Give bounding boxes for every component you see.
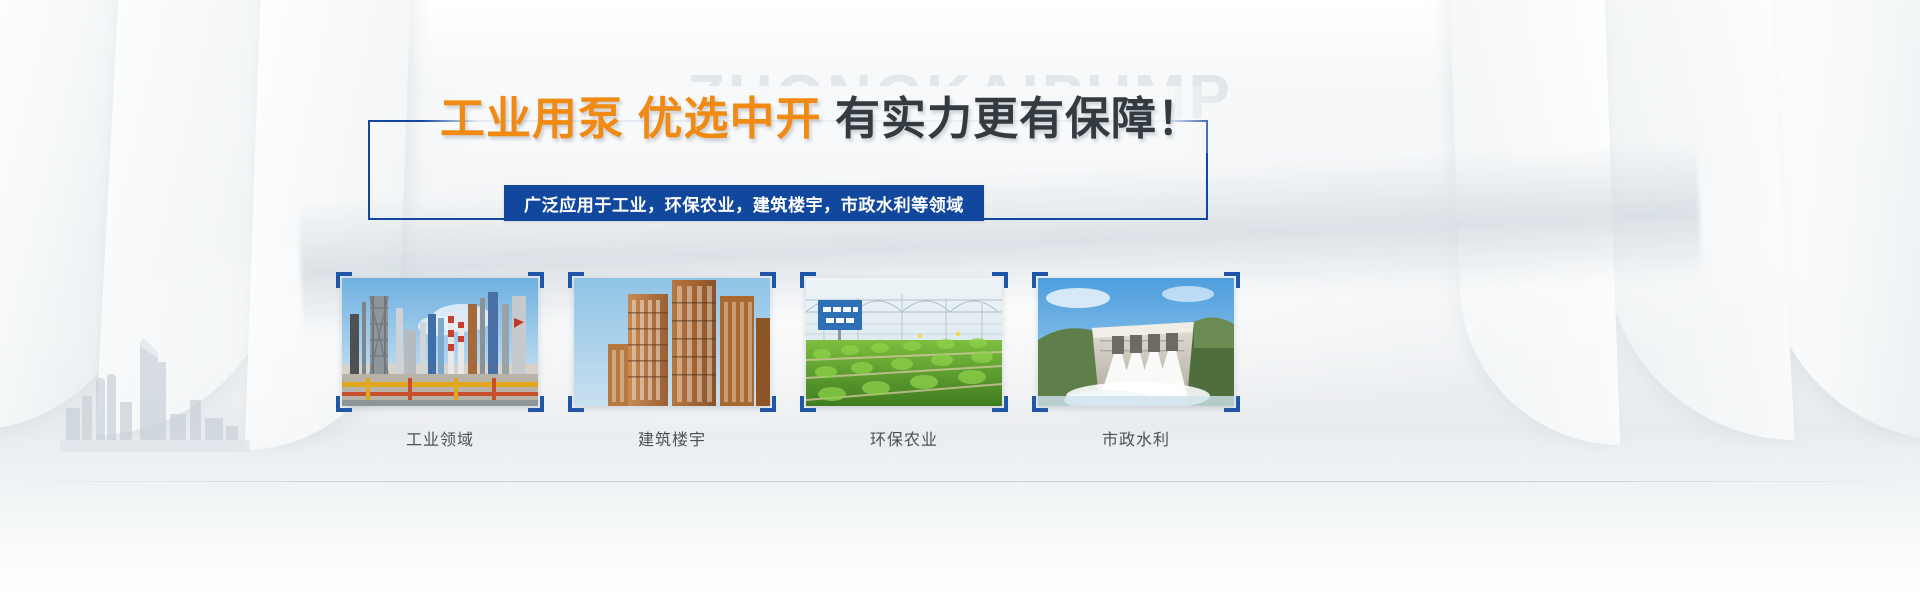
floor-horizon-line <box>0 481 1920 482</box>
card-caption: 工业领域 <box>336 426 544 450</box>
subtitle-bar: 广泛应用于工业，环保农业，建筑楼宇，市政水利等领域 <box>504 185 984 221</box>
thumbnail-frame <box>336 272 544 412</box>
subtitle-text: 广泛应用于工业，环保农业，建筑楼宇，市政水利等领域 <box>524 191 964 216</box>
thumbnail-frame <box>568 272 776 412</box>
floor-gradient <box>0 435 1920 600</box>
application-card[interactable]: 建筑楼宇 <box>568 272 776 450</box>
headline: 工业用泵 优选中开 有实力更有保障！ <box>440 96 1203 141</box>
industrial-plant-photo[interactable] <box>342 278 538 406</box>
thumbnail-frame <box>800 272 1008 412</box>
hero-banner: ZHONGKAIPUMP 工业用泵 优选中开 有实力更有保障！ 广泛应用于工业，… <box>0 0 1920 600</box>
application-card[interactable]: 工业领域 <box>336 272 544 450</box>
card-caption: 市政水利 <box>1032 426 1240 450</box>
headline-rest: 有实力更有保障！ <box>822 93 1204 144</box>
application-card-list: 工业领域 <box>336 272 1240 450</box>
application-card[interactable]: 市政水利 <box>1032 272 1240 450</box>
card-caption: 建筑楼宇 <box>568 426 776 450</box>
card-caption: 环保农业 <box>800 426 1008 450</box>
headline-highlight: 工业用泵 优选中开 <box>440 93 822 144</box>
greenhouse-farm-photo[interactable] <box>806 278 1002 406</box>
thumbnail-frame <box>1032 272 1240 412</box>
office-buildings-photo[interactable] <box>574 278 770 406</box>
application-card[interactable]: 环保农业 <box>800 272 1008 450</box>
city-skyline-icon <box>60 322 250 452</box>
dam-spillway-photo[interactable] <box>1038 278 1234 406</box>
